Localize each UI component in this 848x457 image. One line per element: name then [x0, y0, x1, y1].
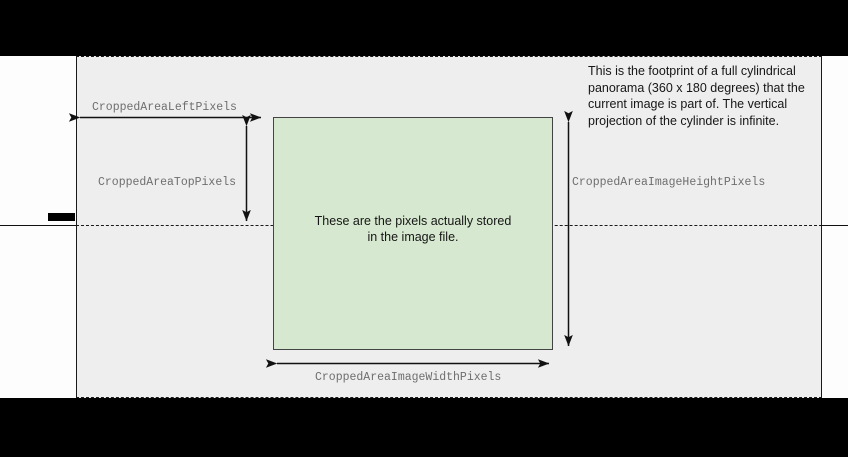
stored-pixels-caption-line1: These are the pixels actually stored	[274, 213, 552, 229]
stored-pixels-rectangle: These are the pixels actually stored in …	[273, 117, 553, 350]
horizon-line-right	[820, 225, 848, 226]
horizon-marker-bar	[48, 213, 75, 221]
horizon-line-left	[0, 225, 78, 226]
top-letterbox-band	[0, 0, 848, 56]
bottom-letterbox-band	[0, 398, 848, 457]
panorama-bottom-edge	[76, 397, 822, 398]
panorama-crop-diagram: These are the pixels actually stored in …	[0, 0, 848, 457]
dimension-label-cropped-area-top-pixels: CroppedAreaTopPixels	[98, 176, 236, 189]
stored-pixels-caption-line2: in the image file.	[274, 229, 552, 245]
stored-pixels-caption: These are the pixels actually stored in …	[274, 213, 552, 245]
panorama-top-edge	[76, 56, 822, 57]
dimension-label-cropped-area-image-width-pixels: CroppedAreaImageWidthPixels	[315, 371, 501, 384]
dimension-label-cropped-area-image-height-pixels: CroppedAreaImageHeightPixels	[572, 176, 765, 189]
dimension-label-cropped-area-left-pixels: CroppedAreaLeftPixels	[92, 101, 237, 114]
panorama-description-text: This is the footprint of a full cylindri…	[588, 63, 832, 129]
